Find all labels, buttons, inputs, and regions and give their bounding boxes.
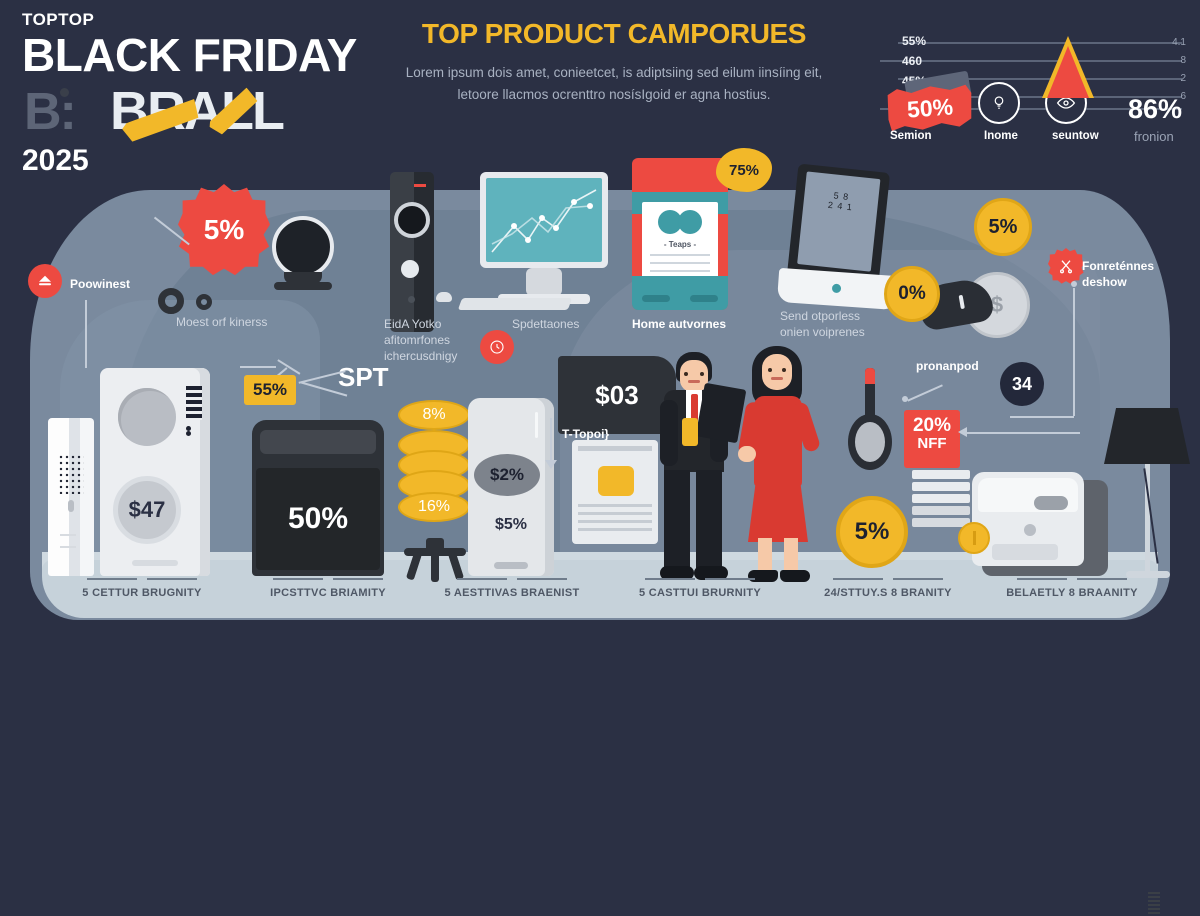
powinest-label: Poowinest <box>70 276 130 292</box>
header-title-line2-row: B: BRALL <box>22 80 382 138</box>
header-middle: TOP PRODUCT CAMPORUES Lorem ipsum dois a… <box>404 18 824 107</box>
camera-button-icon <box>401 260 419 278</box>
dishwasher: 50% <box>252 420 384 576</box>
washer-drum <box>118 388 176 446</box>
tripod-stand <box>400 538 470 582</box>
product-card <box>572 440 658 544</box>
stat-rule-1 <box>898 42 1182 44</box>
camera-dot-icon <box>408 296 415 303</box>
small-gold-coin <box>958 522 990 554</box>
badge-34: 34 <box>1000 362 1044 406</box>
tag-20-value: 20% <box>904 416 960 436</box>
tag-off-label: NFF <box>904 436 960 452</box>
racket-tip <box>865 368 875 384</box>
speaker-plate <box>274 282 332 290</box>
desktop-monitor <box>480 172 608 268</box>
caption-item: 5 CASTTUI BRURNITY <box>600 578 800 599</box>
bulb-icon <box>978 82 1020 124</box>
washer-price: $47 <box>129 497 166 523</box>
caption-text: 24/STTUY.S 8 BRANITY <box>788 587 988 599</box>
ring-small-icon <box>196 294 212 310</box>
monitor-power-dot <box>60 88 69 97</box>
barcode-icon <box>1148 892 1160 916</box>
floor-lamp <box>1104 408 1190 578</box>
printer <box>972 470 1108 576</box>
stat-value-0: 4.1 <box>1172 37 1186 48</box>
camera-led-icon <box>414 184 426 187</box>
caption-item: BELAETLY 8 BRAANITY <box>972 578 1172 599</box>
stat-value-1: 8 <box>1180 55 1186 66</box>
tag-20-off: 20% NFF <box>904 410 960 468</box>
person-man <box>660 352 730 584</box>
printer-tray <box>992 544 1058 560</box>
caption-text: 5 AESTTIVAS BRAENIST <box>412 587 612 599</box>
monitor-stand <box>526 268 562 296</box>
tablet-screen: 5 82 4 1 <box>797 171 880 271</box>
pronanpod-label: pronanpod <box>916 358 979 374</box>
washer-foot <box>132 560 178 566</box>
tower-camera <box>390 172 434 332</box>
lamp-base <box>1126 571 1170 578</box>
fridge-handle <box>535 412 538 438</box>
round-speaker <box>272 216 334 282</box>
tv-price: $03 <box>595 380 638 411</box>
coin-8-percent: 8% <box>398 400 470 430</box>
refrigerator: $2% $5% <box>468 398 554 576</box>
washer-knobs-icon <box>186 426 202 431</box>
dishwasher-face: 50% <box>256 468 380 570</box>
stat-value-2: 2 <box>1180 73 1186 84</box>
person-woman <box>740 346 816 584</box>
printer-front <box>972 472 1084 566</box>
stat-legend-2: seuntow <box>1052 130 1099 142</box>
stat-legend-1: Inome <box>984 130 1018 142</box>
arrow-left-icon <box>958 427 967 437</box>
coin-5-percent-bottom: 5% <box>836 496 908 568</box>
stat-rule-2 <box>880 60 1182 62</box>
stat-label-1: 460 <box>902 54 922 68</box>
smartphone-app: - Teaps - <box>632 158 728 310</box>
header-kicker: TOPTOP <box>22 10 382 30</box>
home-label: Home autvornes <box>632 316 726 332</box>
washer-porthole: $47 <box>113 476 181 544</box>
keyboard <box>458 298 572 310</box>
phone-bottombar <box>632 276 728 310</box>
ring-large-icon <box>158 288 184 314</box>
connector-nub-tag20 <box>902 396 908 402</box>
caption-text: BELAETLY 8 BRAANITY <box>972 587 1172 599</box>
phone-card-title: - Teaps - <box>642 240 718 249</box>
racket-mesh <box>855 422 885 462</box>
phone-icon-right <box>678 210 702 234</box>
fridge-bottom-discount: $5% <box>468 516 554 534</box>
header-mid-title: TOP PRODUCT CAMPORUES <box>404 18 824 50</box>
book-stack <box>912 470 970 532</box>
most-off-label: Moest orf kinerss <box>176 314 346 330</box>
badge-75-percent: 75% <box>716 148 772 192</box>
washer-panel-icon <box>186 386 202 420</box>
connector-t-topoi <box>550 418 552 462</box>
spdettaones-label: Spdettaones <box>512 316 579 332</box>
printer-slot <box>1034 496 1068 510</box>
clock-badge-icon <box>480 330 514 364</box>
line-chart-icon <box>486 178 602 262</box>
coin-5-percent-right: 5% <box>974 198 1032 256</box>
caption-text: 5 CETTUR BRUGNITY <box>42 587 242 599</box>
connector-tag55-h <box>240 366 276 368</box>
dishwasher-lip <box>260 430 376 454</box>
caption-item: IPCSTTVC BRIAMITY <box>228 578 428 599</box>
ticket-value: 50% <box>906 93 954 123</box>
tag-55-percent: 55% <box>244 375 296 405</box>
header-left: TOPTOP BLACK FRIDAY B: BRALL 2025 <box>22 10 382 178</box>
stat-legend-3: fronion <box>1134 129 1174 144</box>
caption-text: 5 CASTTUI BRURNITY <box>600 587 800 599</box>
fridge-base <box>494 562 528 569</box>
sweater-icon <box>598 466 634 496</box>
stat-label-0: 55% <box>902 34 926 48</box>
coin-16-percent: 16% <box>398 492 470 522</box>
camera-lens-icon <box>394 202 430 238</box>
speaker-ball <box>272 216 334 278</box>
speaker-grid-icon <box>58 454 84 494</box>
header-mid-paragraph: Lorem ipsum dois amet, conieetcet, is ad… <box>404 62 824 107</box>
header-title-line1: BLACK FRIDAY <box>22 34 382 78</box>
connector-tag20 <box>962 432 1080 434</box>
spt-label: SPT <box>338 362 389 393</box>
stats-panel: 55% 460 45% 4.1 8 2 6 50% 86% Semion Ino… <box>880 12 1188 142</box>
caption-text: IPCSTTVC BRIAMITY <box>228 587 428 599</box>
stat-big-percent: 86% <box>1128 94 1182 125</box>
connector-right-horizontal <box>1010 416 1074 418</box>
connector-right-vertical <box>1073 288 1075 416</box>
fonrenes-label: Fonreténnes deshow <box>1082 258 1192 290</box>
television: $03 <box>558 356 676 434</box>
dishwasher-discount: 50% <box>288 502 348 536</box>
tower-speaker <box>48 418 94 576</box>
printer-button-icon[interactable] <box>1024 524 1036 536</box>
monitor-screen <box>486 178 602 262</box>
caption-item: 5 AESTTIVAS BRAENIST <box>412 578 612 599</box>
discount-ticket-badge: 50% <box>885 83 976 133</box>
header-year: 2025 <box>22 144 382 178</box>
washing-machine: $47 <box>100 368 210 576</box>
product-card-header <box>578 446 652 451</box>
infographic-canvas: TOPTOP BLACK FRIDAY B: BRALL 2025 TOP PR… <box>0 0 1200 654</box>
powinest-marker-icon <box>28 264 62 298</box>
lamp-shade <box>1104 408 1190 464</box>
coin-0-percent: 0% <box>884 266 940 322</box>
fridge-top-discount: $2% <box>474 454 540 496</box>
connector-powinest <box>85 300 87 368</box>
caption-item: 24/STTUY.S 8 BRANITY <box>788 578 988 599</box>
connector-nub-right <box>1071 281 1077 287</box>
mouse-icon <box>436 292 452 302</box>
arrow-down-icon <box>545 460 557 469</box>
racket <box>848 368 892 488</box>
trend-arrow-inner-icon <box>1047 46 1089 98</box>
phone-card: - Teaps - <box>642 202 718 280</box>
stat-legend-0: Semion <box>890 130 932 142</box>
caption-item: 5 CETTUR BRUGNITY <box>42 578 242 599</box>
